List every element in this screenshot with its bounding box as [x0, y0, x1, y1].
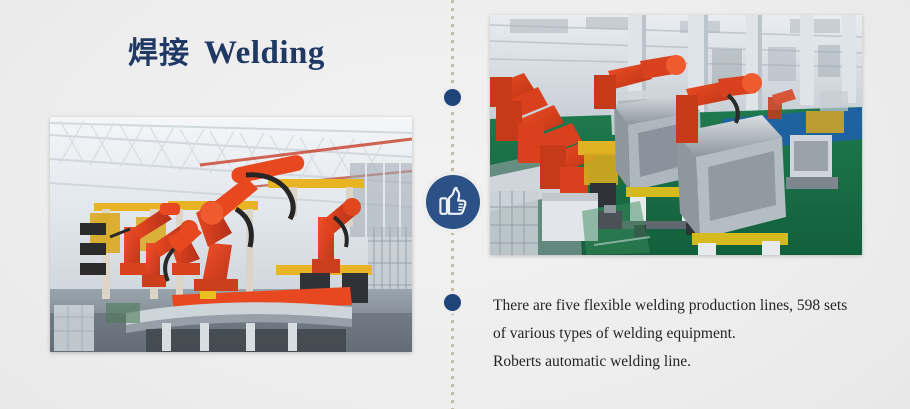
slide-canvas: 焊接Welding	[0, 0, 910, 409]
description-line-3: Roberts automatic welding line.	[493, 348, 893, 376]
description-text: There are five flexible welding producti…	[493, 292, 893, 376]
thumbs-up-icon	[436, 185, 470, 219]
page-title: 焊接Welding	[128, 28, 325, 72]
timeline-node-top	[444, 89, 461, 106]
welding-robots-line-illustration	[50, 117, 412, 352]
description-line-1: There are five flexible welding producti…	[493, 292, 893, 320]
thumbs-up-badge	[426, 175, 480, 229]
timeline-node-bottom	[444, 294, 461, 311]
page-title-english: Welding	[204, 35, 325, 71]
truck-cab-welding-floor-photo	[490, 15, 862, 255]
description-line-2: of various types of welding equipment.	[493, 320, 893, 348]
welding-robots-line-photo	[50, 117, 412, 352]
page-title-chinese: 焊接	[128, 36, 190, 71]
truck-cab-welding-floor-illustration	[490, 15, 862, 255]
